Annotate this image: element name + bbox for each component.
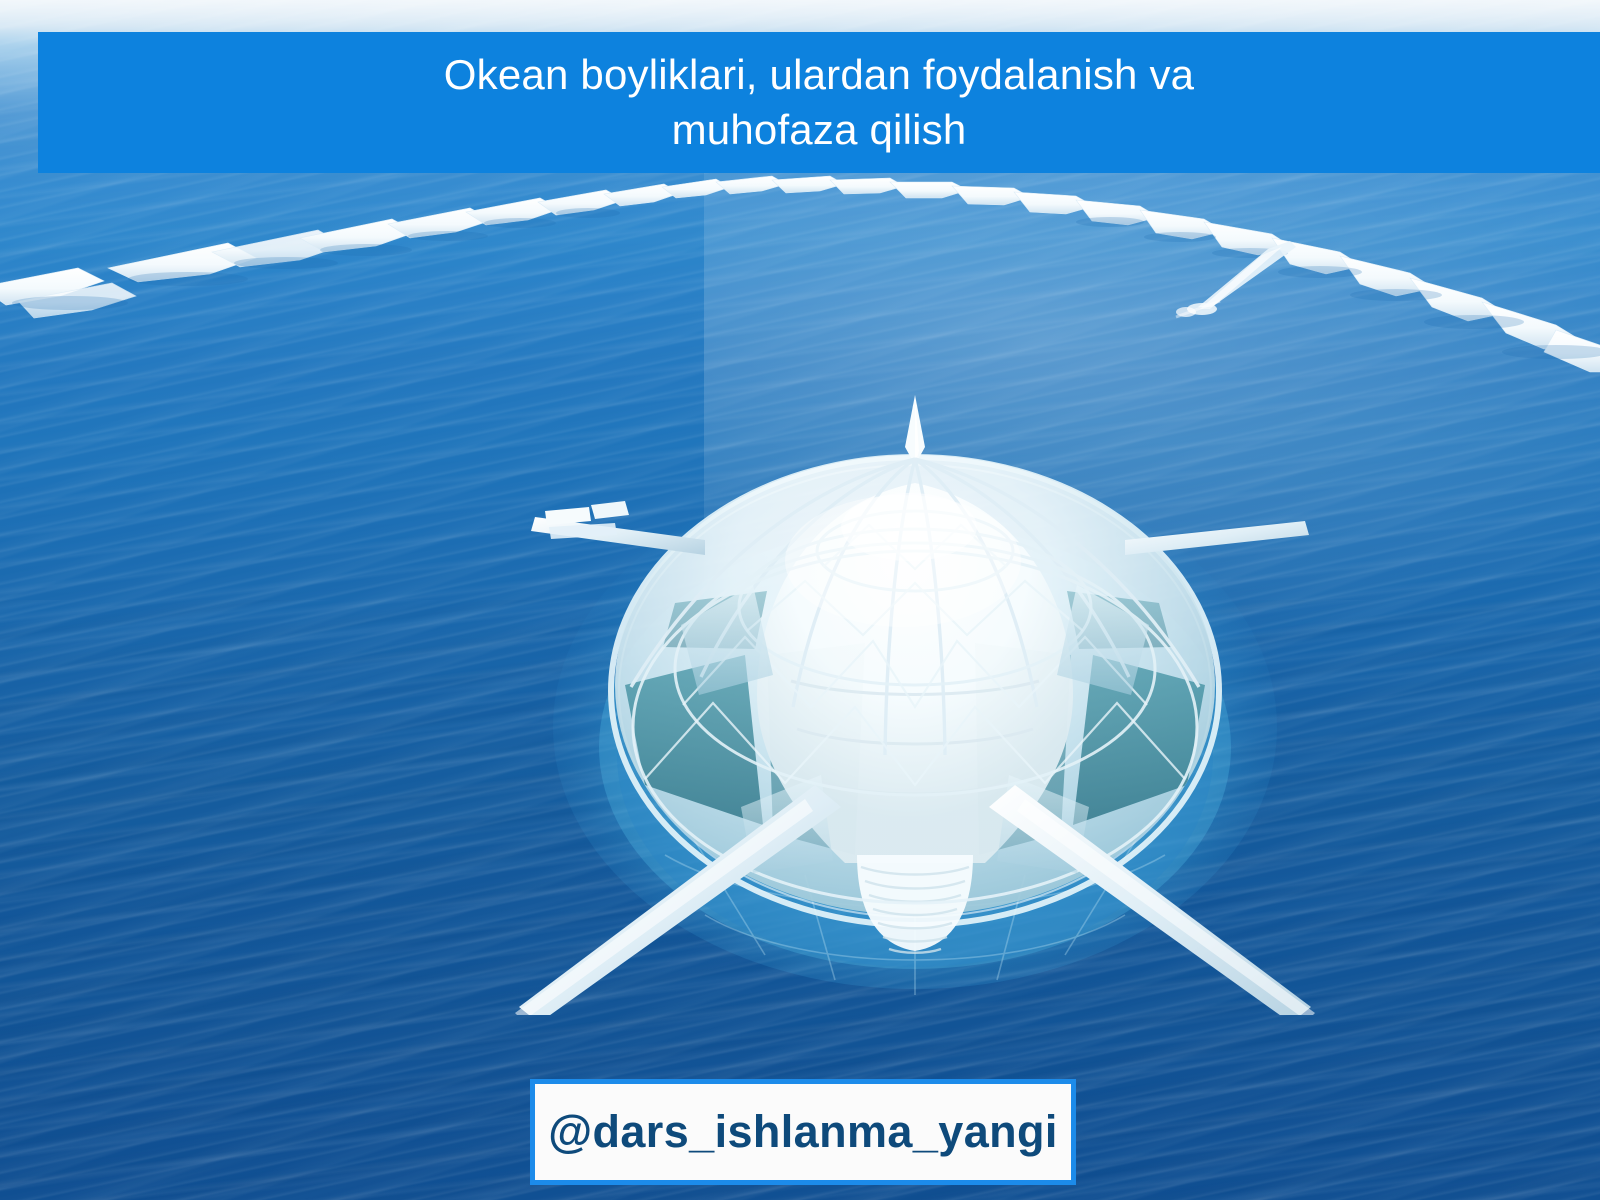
slide-root: Okean boyliklari, ulardan foydalanish va… [0, 0, 1600, 1200]
water-gradient [0, 0, 1600, 1200]
watermark-handle: @dars_ishlanma_yangi [548, 1106, 1058, 1158]
page-title: Okean boyliklari, ulardan foydalanish va… [404, 48, 1234, 157]
title-line-1: Okean boyliklari, ulardan foydalanish va [444, 48, 1194, 103]
title-banner: Okean boyliklari, ulardan foydalanish va… [38, 32, 1600, 173]
title-line-2: muhofaza qilish [444, 103, 1194, 158]
watermark-box: @dars_ishlanma_yangi [530, 1079, 1076, 1185]
ocean-photo [0, 0, 1600, 1200]
